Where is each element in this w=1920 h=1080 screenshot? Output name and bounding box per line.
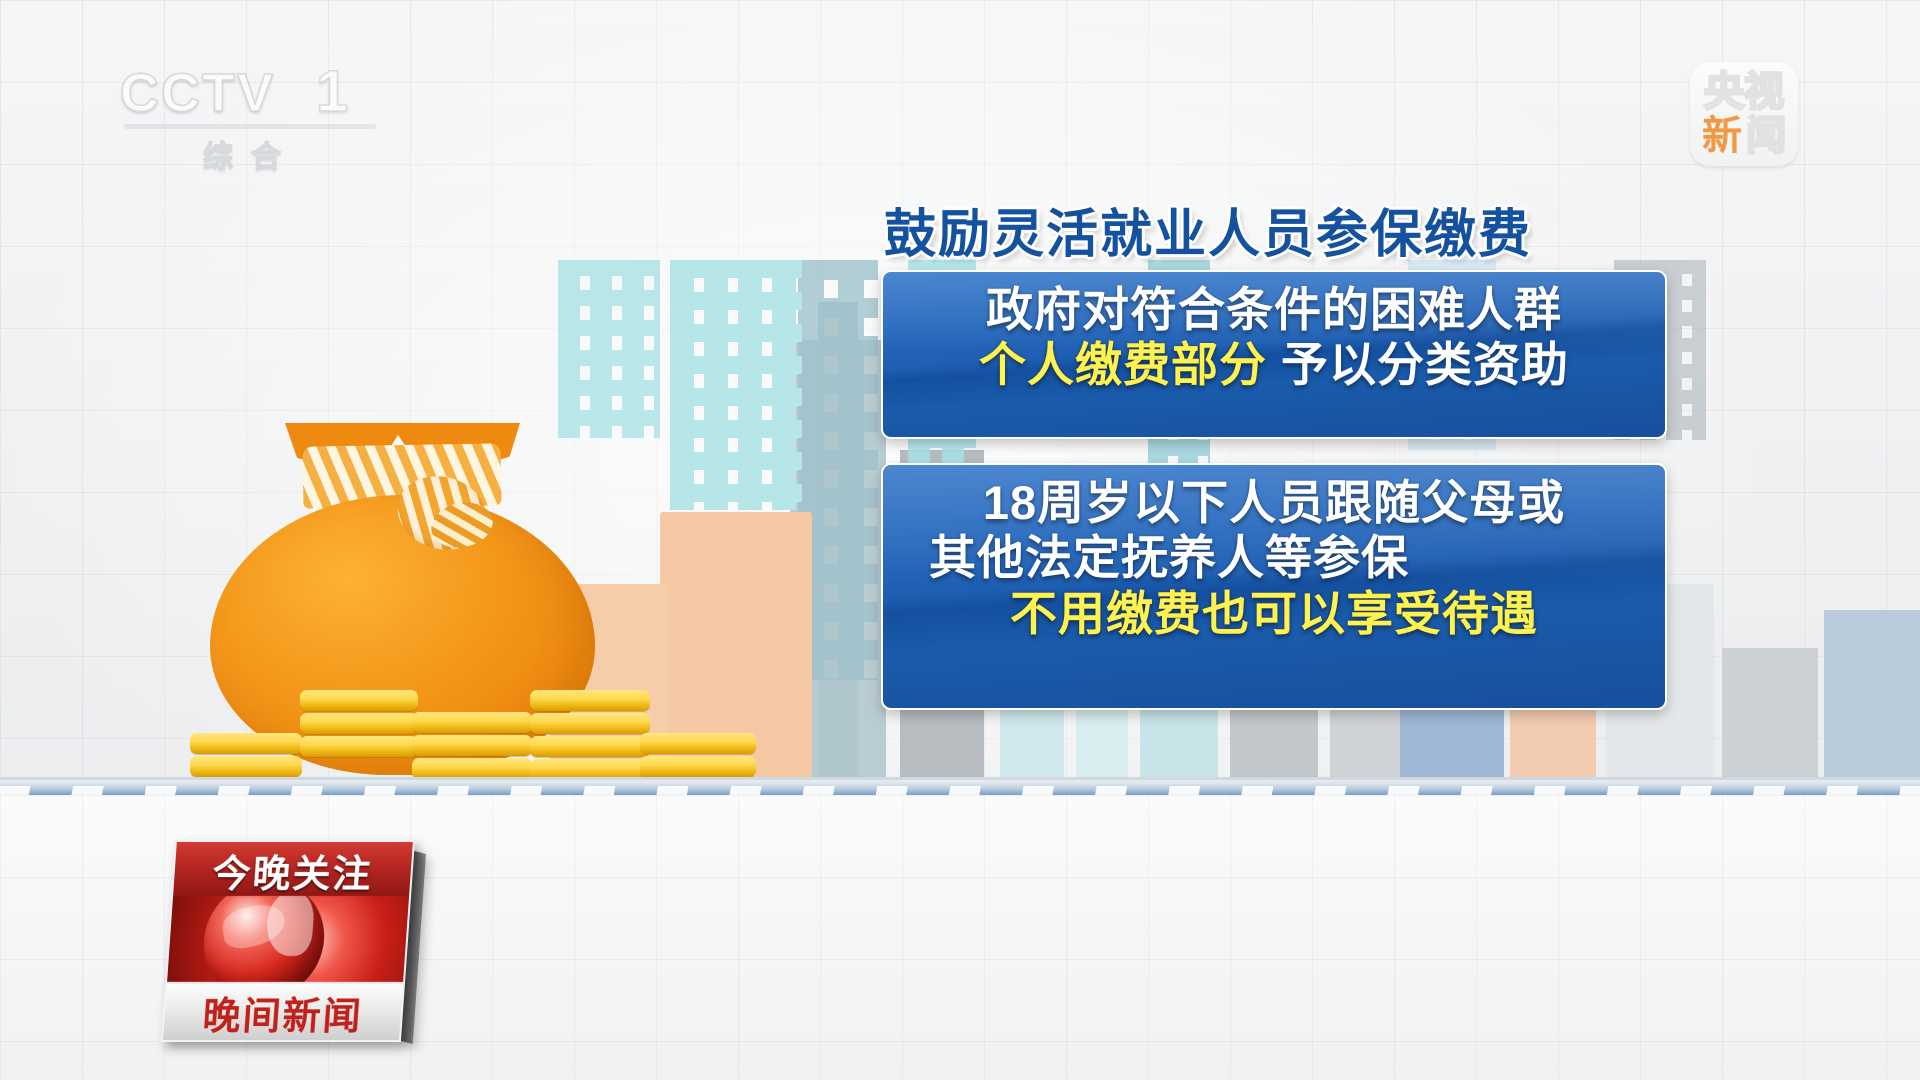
program-logo-bottom-label: 晚间新闻 <box>201 985 365 1040</box>
coin-stack-far-right <box>640 733 756 779</box>
info-box-2-content: 18周岁以下人员跟随父母或 其他法定抚养人等参保 不用缴费也可以享受待遇 <box>883 465 1665 641</box>
cctv-channel-subtitle: 综合 <box>146 132 356 176</box>
window-grid-peach-mid <box>670 260 802 510</box>
program-logo: 今晚关注 晚间新闻 <box>153 840 419 1040</box>
road-top-edge <box>0 777 1920 780</box>
cctv-news-badge: 央视 新 闻 <box>1690 62 1798 166</box>
cctv-underline <box>124 124 376 129</box>
info-box-minor-coverage: 18周岁以下人员跟随父母或 其他法定抚养人等参保 不用缴费也可以享受待遇 <box>881 463 1667 710</box>
coin <box>530 690 650 711</box>
coin <box>300 736 418 757</box>
info-box-2-line-3: 不用缴费也可以享受待遇 <box>883 586 1665 641</box>
coin <box>300 713 418 734</box>
news-badge-text-rest: 闻 <box>1746 116 1786 156</box>
coin <box>530 736 650 757</box>
coin <box>190 756 302 777</box>
coin <box>640 733 756 754</box>
building-edge-blue <box>1824 610 1920 780</box>
coin-stack-left <box>300 690 418 759</box>
info-box-1-line-2-highlight: 个人缴费部分 <box>979 338 1267 391</box>
info-box-1-line-2: 个人缴费部分 予以分类资助 <box>883 337 1665 392</box>
globe-icon <box>200 896 328 982</box>
page-title: 鼓励灵活就业人员参保缴费 <box>884 192 1532 267</box>
coin <box>190 733 302 754</box>
news-badge-line-1: 央视 <box>1690 72 1798 112</box>
program-logo-top-banner: 今晚关注 <box>171 840 415 900</box>
info-box-2-line-2: 其他法定抚养人等参保 <box>883 530 1665 585</box>
coin <box>530 713 650 734</box>
program-logo-top-label: 今晚关注 <box>211 843 375 898</box>
info-box-2-line-1: 18周岁以下人员跟随父母或 <box>883 475 1665 530</box>
coin-stack-right <box>530 690 650 782</box>
info-box-1-content: 政府对符合条件的困难人群 个人缴费部分 予以分类资助 <box>883 272 1665 393</box>
news-badge-line-2: 新 闻 <box>1690 116 1798 156</box>
coin <box>412 735 532 756</box>
building-far-right-grey <box>1722 648 1818 780</box>
news-badge-text-top: 央视 <box>1704 72 1784 112</box>
coin-stack-center <box>412 712 532 781</box>
info-box-1-line-2-rest: 予以分类资助 <box>1267 338 1569 391</box>
info-box-policy-subsidy: 政府对符合条件的困难人群 个人缴费部分 予以分类资助 <box>881 270 1667 439</box>
coin <box>412 712 532 733</box>
coin <box>300 690 418 711</box>
news-badge-text-highlight: 新 <box>1702 116 1742 156</box>
broadcast-frame: CCTV 1 综合 央视 新 闻 鼓励灵活就业人员参保缴费 政府对符合条件的困难… <box>0 0 1920 1080</box>
program-logo-bottom-banner: 晚间新闻 <box>161 982 405 1042</box>
coin <box>640 756 756 777</box>
cctv-channel-logo: CCTV 1 综合 <box>120 62 380 174</box>
cctv-channel-number: 1 <box>316 58 348 125</box>
program-logo-globe-panel <box>165 896 411 982</box>
coin <box>412 758 532 779</box>
info-box-1-line-1: 政府对符合条件的困难人群 <box>883 282 1665 337</box>
coin-stack-far-left <box>190 733 302 779</box>
